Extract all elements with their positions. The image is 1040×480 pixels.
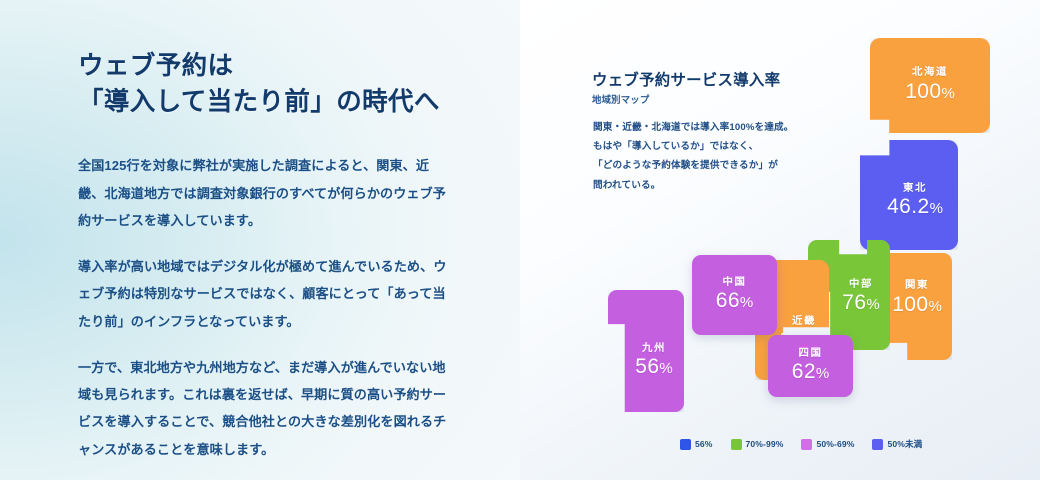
region-value: 56 <box>635 355 659 378</box>
legend-swatch-icon <box>680 439 691 450</box>
headline-line-1: ウェブ予約は <box>78 48 476 84</box>
region-unit: % <box>816 365 829 382</box>
legend-item-2[interactable]: 50%-69% <box>801 439 854 450</box>
right-panel: ウェブ予約サービス導入率 地域別マップ 関東・近畿・北海道では導入率100%を達… <box>520 0 1040 480</box>
region-value: 100 <box>892 293 928 316</box>
region-name: 北海道 <box>905 67 955 78</box>
legend-swatch-icon <box>801 439 812 450</box>
paragraph-3: 一方で、東北地方や九州地方など、まだ導入が進んでいない地域も見られます。これは裏… <box>78 354 450 463</box>
paragraph-1: 全国125行を対象に弊社が実施した調査によると、関東、近畿、北海道地方では調査対… <box>78 152 450 234</box>
region-name: 九州 <box>635 343 673 354</box>
legend-item-1[interactable]: 70%-99% <box>731 439 784 450</box>
legend-item-3[interactable]: 50%未満 <box>872 438 922 450</box>
legend-label: 50%-69% <box>816 439 854 449</box>
region-unit: % <box>659 360 672 377</box>
legend-swatch-icon <box>872 439 883 450</box>
map-region-hokkaido[interactable]: 北海道 100% <box>870 38 990 133</box>
headline-line-2: 「導入して当たり前」の時代へ <box>78 84 476 120</box>
map-region-kyushu[interactable]: 九州 56% <box>608 290 684 412</box>
map-region-tohoku[interactable]: 東北 46.2% <box>860 140 958 250</box>
region-unit: % <box>866 296 879 313</box>
region-name: 中国 <box>716 277 754 288</box>
region-value: 76 <box>842 291 866 314</box>
paragraph-2: 導入率が高い地域ではデジタル化が極めて進んでいるため、ウェブ予約は特別なサービス… <box>78 253 450 335</box>
map-legend: 56% 70%-99% 50%-69% 50%未満 <box>680 438 922 450</box>
region-name: 東北 <box>887 183 943 194</box>
legend-label: 56% <box>695 439 713 449</box>
region-unit: % <box>740 294 753 311</box>
region-value: 62 <box>792 360 816 383</box>
region-name: 中部 <box>842 279 880 290</box>
legend-label: 70%-99% <box>746 439 784 449</box>
region-name: 近畿 <box>779 316 829 327</box>
region-name: 四国 <box>792 348 830 359</box>
region-value: 66 <box>716 289 740 312</box>
body-copy: 全国125行を対象に弊社が実施した調査によると、関東、近畿、北海道地方では調査対… <box>78 152 476 462</box>
region-value: 100 <box>905 80 941 103</box>
legend-item-0[interactable]: 56% <box>680 439 713 450</box>
region-unit: % <box>928 298 941 315</box>
legend-label: 50%未満 <box>887 438 922 450</box>
map-region-kanto[interactable]: 関東 100% <box>882 253 952 360</box>
region-map: 北海道 100% 東北 46.2% 関東 100% 中部 76 <box>520 0 1040 432</box>
slide-root: ウェブ予約は 「導入して当たり前」の時代へ 全国125行を対象に弊社が実施した調… <box>0 0 1040 480</box>
map-region-chugoku[interactable]: 中国 66% <box>692 255 777 335</box>
region-unit: % <box>941 85 954 102</box>
map-region-shikoku[interactable]: 四国 62% <box>768 335 853 397</box>
region-value: 46.2 <box>887 195 929 218</box>
left-panel: ウェブ予約は 「導入して当たり前」の時代へ 全国125行を対象に弊社が実施した調… <box>0 0 520 480</box>
page-title: ウェブ予約は 「導入して当たり前」の時代へ <box>78 48 476 120</box>
region-unit: % <box>930 200 943 217</box>
legend-swatch-icon <box>731 439 742 450</box>
region-name: 関東 <box>892 280 942 291</box>
